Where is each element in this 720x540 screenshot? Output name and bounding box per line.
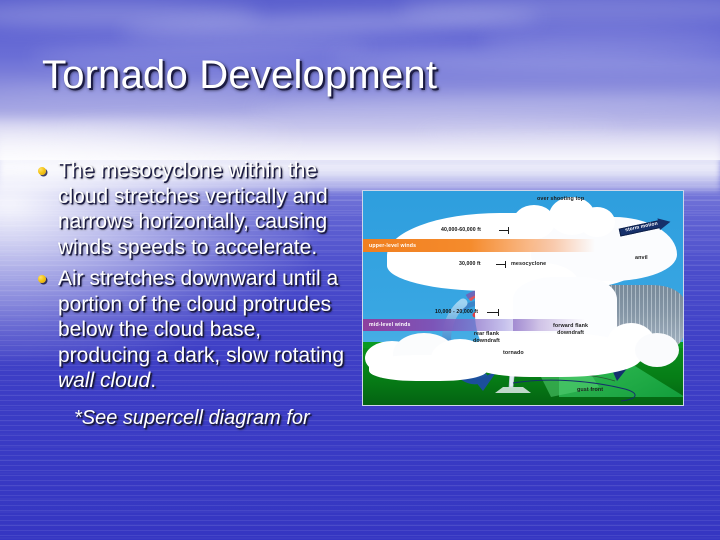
forward-flank-downdraft-label: forward flank downdraft bbox=[553, 323, 588, 336]
upper-level-winds-label: upper-level winds bbox=[369, 243, 416, 249]
bullet-text-emphasis: wall cloud bbox=[58, 369, 150, 392]
altitude-tick bbox=[505, 261, 506, 268]
bullet-text: The mesocyclone within the cloud stretch… bbox=[58, 158, 354, 260]
over-shooting-top-label: over shooting top bbox=[537, 196, 584, 203]
altitude-tick bbox=[498, 309, 499, 316]
altitude-label-30k: 30,000 ft bbox=[459, 261, 481, 268]
overshooting-top-cloud bbox=[579, 207, 615, 237]
altitude-tick bbox=[508, 227, 509, 234]
gust-front-label: gust front bbox=[577, 387, 603, 394]
tornado-label: tornado bbox=[503, 350, 524, 357]
supercell-diagram-image: upper-level winds mid-level winds storm … bbox=[362, 190, 684, 406]
slide-canvas: Tornado Development The mesocyclone with… bbox=[0, 0, 720, 540]
bullet-item: The mesocyclone within the cloud stretch… bbox=[38, 158, 354, 260]
bullet-item: Air stretches downward until a portion o… bbox=[38, 266, 354, 394]
slide-body: The mesocyclone within the cloud stretch… bbox=[38, 158, 354, 431]
bullet-text: Air stretches downward until a portion o… bbox=[58, 266, 354, 394]
cloud-wisp bbox=[480, 30, 720, 52]
slide-footnote: *See supercell diagram for bbox=[74, 406, 354, 431]
cumulus-cloud bbox=[635, 333, 679, 367]
upper-level-winds-band: upper-level winds bbox=[363, 239, 595, 252]
bullet-text-run: Air stretches downward until a portion o… bbox=[58, 267, 344, 367]
altitude-label-40-60k: 40,000-60,000 ft bbox=[441, 227, 481, 234]
cumulus-cloud bbox=[369, 355, 487, 381]
altitude-label-10-20k: 10,000 - 20,000 ft bbox=[435, 309, 478, 316]
bullet-marker-icon bbox=[38, 158, 58, 260]
anvil-label: anvil bbox=[635, 255, 648, 262]
bullet-text-run: . bbox=[150, 369, 156, 392]
bullet-marker-icon bbox=[38, 266, 58, 394]
tornado-debris bbox=[495, 387, 531, 393]
overshooting-top-cloud bbox=[513, 205, 555, 239]
mid-level-winds-label: mid-level winds bbox=[369, 322, 411, 328]
rear-flank-downdraft-label: rear flank downdraft bbox=[473, 331, 500, 344]
slide-title: Tornado Development bbox=[42, 52, 662, 98]
bullet-text-run: The mesocyclone within the cloud stretch… bbox=[58, 159, 328, 259]
mesocyclone-label: mesocyclone bbox=[511, 261, 546, 268]
